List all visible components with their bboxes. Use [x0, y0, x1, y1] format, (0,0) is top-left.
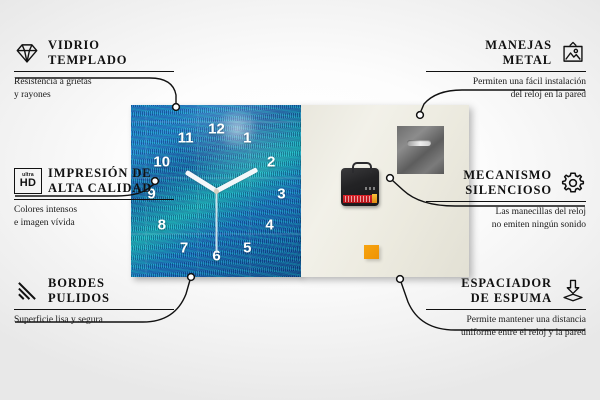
- desc-line-2: no emiten ningún sonido: [426, 219, 586, 232]
- metal-hanger-plate: [397, 126, 444, 174]
- title-line-2: PULIDOS: [48, 291, 110, 306]
- clock-numeral-11: 11: [178, 130, 194, 145]
- mechanism-detail-dots: [365, 187, 375, 190]
- desc-line-2: uniforme entre el reloj y la pared: [426, 327, 586, 340]
- quartz-mechanism: [341, 168, 379, 206]
- callout-silent-mechanism: MECANISMO SILENCIOSO Las manecillas del …: [426, 168, 586, 231]
- clock-second-hand: [216, 191, 218, 253]
- clock-minute-hand: [215, 167, 258, 193]
- desc-line-1: Resistencia a grietas: [14, 76, 174, 89]
- desc-line-1: Permiten una fácil instalación: [426, 76, 586, 89]
- callout-tempered-glass-title: VIDRIO TEMPLADO: [48, 38, 127, 68]
- clock-hour-hand: [185, 170, 218, 193]
- callout-tempered-glass-header: VIDRIO TEMPLADO: [14, 38, 174, 68]
- ultra-hd-icon: ultra HD: [14, 168, 40, 194]
- title-line-2: ALTA CALIDAD: [48, 181, 152, 196]
- callout-divider: [426, 201, 586, 203]
- clock-center-cap: [214, 189, 219, 194]
- callout-silent-mechanism-header: MECANISMO SILENCIOSO: [426, 168, 586, 198]
- polished-edges-icon: [14, 278, 40, 304]
- callout-foam-spacer: ESPACIADOR DE ESPUMA Permite mantener un…: [426, 276, 586, 339]
- clock-numeral-1: 1: [243, 130, 251, 145]
- callout-metal-handles-header: MANEJAS METAL: [426, 38, 586, 68]
- title-line-1: MANEJAS: [485, 38, 552, 53]
- title-line-2: SILENCIOSO: [463, 183, 552, 198]
- callout-hd-print: ultra HD IMPRESIÓN DE ALTA CALIDAD Color…: [14, 166, 174, 229]
- callout-divider: [14, 71, 174, 73]
- title-line-1: MECANISMO: [463, 168, 552, 183]
- mechanism-red-label: [343, 195, 373, 203]
- callout-foam-spacer-header: ESPACIADOR DE ESPUMA: [426, 276, 586, 306]
- foam-spacer-arrow-icon: [560, 278, 586, 304]
- mechanism-hanging-loop: [352, 162, 372, 173]
- callout-divider: [426, 309, 586, 311]
- hanging-frame-icon: [560, 40, 586, 66]
- desc-line-2: del reloj en la pared: [426, 89, 586, 102]
- desc-line-1: Superficie lisa y segura: [14, 314, 174, 327]
- title-line-1: IMPRESIÓN DE: [48, 166, 152, 181]
- title-line-1: VIDRIO: [48, 38, 127, 53]
- ultra-hd-icon-big-text: HD: [20, 178, 37, 189]
- callout-divider: [426, 71, 586, 73]
- callout-hd-print-header: ultra HD IMPRESIÓN DE ALTA CALIDAD: [14, 166, 174, 196]
- desc-line-2: e imagen vívida: [14, 217, 174, 230]
- callout-polished-edges-title: BORDES PULIDOS: [48, 276, 110, 306]
- title-line-2: TEMPLADO: [48, 53, 127, 68]
- callout-divider: [14, 309, 174, 311]
- callout-polished-edges-header: BORDES PULIDOS: [14, 276, 174, 306]
- gear-icon: [560, 170, 586, 196]
- callout-hd-print-title: IMPRESIÓN DE ALTA CALIDAD: [48, 166, 152, 196]
- callout-metal-handles-desc: Permiten una fácil instalación del reloj…: [426, 76, 586, 101]
- title-line-1: BORDES: [48, 276, 110, 291]
- callout-tempered-glass-desc: Resistencia a grietas y rayones: [14, 76, 174, 101]
- desc-line-1: Colores intensos: [14, 204, 174, 217]
- callout-metal-handles-title: MANEJAS METAL: [485, 38, 552, 68]
- callout-metal-handles: MANEJAS METAL Permiten una fácil instala…: [426, 38, 586, 101]
- callout-hd-print-desc: Colores intensos e imagen vívida: [14, 204, 174, 229]
- infographic-canvas: 12 1 2 3 4 5 6 7 8 9 10 11: [0, 0, 600, 400]
- title-line-2: DE ESPUMA: [461, 291, 552, 306]
- desc-line-2: y rayones: [14, 89, 174, 102]
- clock-numeral-5: 5: [243, 240, 251, 255]
- desc-line-1: Permite mantener una distancia: [426, 314, 586, 327]
- product-image-group: 12 1 2 3 4 5 6 7 8 9 10 11: [131, 105, 469, 277]
- callout-silent-mechanism-title: MECANISMO SILENCIOSO: [463, 168, 552, 198]
- title-line-2: METAL: [485, 53, 552, 68]
- mechanism-label-text: [345, 196, 371, 202]
- callout-silent-mechanism-desc: Las manecillas del reloj no emiten ningú…: [426, 206, 586, 231]
- clock-numeral-4: 4: [265, 218, 273, 233]
- callout-tempered-glass: VIDRIO TEMPLADO Resistencia a grietas y …: [14, 38, 174, 101]
- hanger-slot: [407, 140, 431, 146]
- clock-numeral-7: 7: [180, 240, 188, 255]
- callout-polished-edges: BORDES PULIDOS Superficie lisa y segura: [14, 276, 174, 327]
- foam-spacer-pad: [364, 245, 379, 259]
- title-line-1: ESPACIADOR: [461, 276, 552, 291]
- callout-foam-spacer-title: ESPACIADOR DE ESPUMA: [461, 276, 552, 306]
- callout-foam-spacer-desc: Permite mantener una distancia uniforme …: [426, 314, 586, 339]
- mechanism-yellow-chip: [372, 194, 377, 203]
- desc-line-1: Las manecillas del reloj: [426, 206, 586, 219]
- diamond-icon: [14, 40, 40, 66]
- clock-numeral-3: 3: [277, 187, 285, 202]
- callout-divider: [14, 199, 174, 201]
- clock-numeral-12: 12: [208, 122, 225, 137]
- clock-numeral-2: 2: [267, 154, 275, 169]
- callout-polished-edges-desc: Superficie lisa y segura: [14, 314, 174, 327]
